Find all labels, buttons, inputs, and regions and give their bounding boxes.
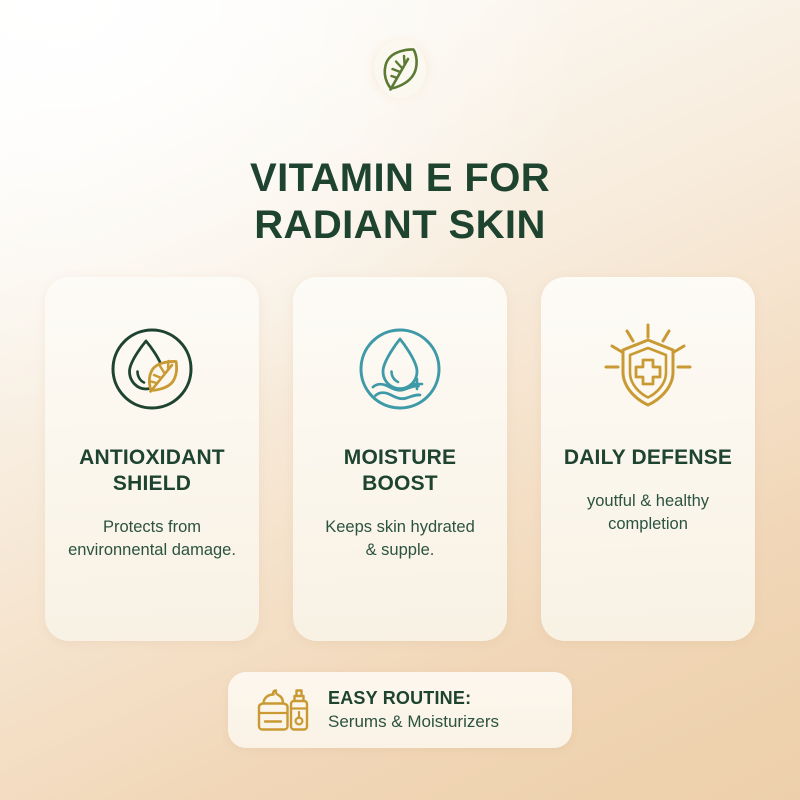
badge-container [0, 32, 800, 106]
droplet-waves-plus-circle-icon [350, 319, 450, 419]
banner-title: EASY ROUTINE: [328, 688, 471, 710]
card-icon-wrap [102, 317, 202, 421]
card-desc-line-1: Keeps skin hydrated [325, 518, 475, 536]
card-title-line-2: BOOST [362, 472, 438, 495]
card-description: Keeps skin hydrated & supple. [325, 516, 475, 562]
benefit-card-antioxidant-shield[interactable]: ANTIOXIDANT SHIELD Protects from environ… [45, 277, 259, 641]
card-desc-line-2: completion [608, 515, 688, 533]
benefit-card-daily-defense[interactable]: DAILY DEFENSE youtful & healthy completi… [541, 277, 755, 641]
infographic-poster: VITAMIN E FOR RADIANT SKIN AN [0, 0, 800, 800]
benefit-cards-row: ANTIOXIDANT SHIELD Protects from environ… [45, 277, 755, 641]
card-title-line-1: DAILY DEFENSE [564, 446, 732, 469]
page-title: VITAMIN E FOR RADIANT SKIN [0, 155, 800, 249]
card-description: youtful & healthy completion [587, 490, 709, 536]
card-title-line-1: ANTIOXIDANT [79, 446, 225, 469]
card-desc-line-2: & supple. [366, 541, 435, 559]
droplet-leaf-circle-icon [102, 319, 202, 419]
banner-icon-wrap [250, 685, 312, 735]
card-title-line-2: SHIELD [113, 472, 191, 495]
card-desc-line-2: environnental damage. [68, 541, 236, 559]
card-title: MOISTURE BOOST [344, 445, 456, 497]
shield-cross-rays-icon [596, 317, 700, 421]
card-icon-wrap [596, 317, 700, 421]
leaf-badge [363, 32, 437, 106]
banner-text: EASY ROUTINE: Serums & Moisturizers [328, 688, 499, 733]
benefit-card-moisture-boost[interactable]: MOISTURE BOOST Keeps skin hydrated & sup… [293, 277, 507, 641]
card-title: ANTIOXIDANT SHIELD [79, 445, 225, 497]
cream-jar-and-serum-bottle-icon [250, 685, 312, 735]
card-desc-line-1: Protects from [103, 518, 201, 536]
headline-line-1: VITAMIN E FOR [250, 156, 550, 200]
card-title: DAILY DEFENSE [564, 445, 732, 471]
card-title-line-1: MOISTURE [344, 446, 456, 469]
leaf-icon [377, 43, 423, 95]
card-icon-wrap [350, 317, 450, 421]
banner-subtitle: Serums & Moisturizers [328, 712, 499, 733]
headline-line-2: RADIANT SKIN [60, 202, 740, 249]
easy-routine-banner[interactable]: EASY ROUTINE: Serums & Moisturizers [228, 672, 572, 748]
card-desc-line-1: youtful & healthy [587, 492, 709, 510]
card-description: Protects from environnental damage. [68, 516, 236, 562]
